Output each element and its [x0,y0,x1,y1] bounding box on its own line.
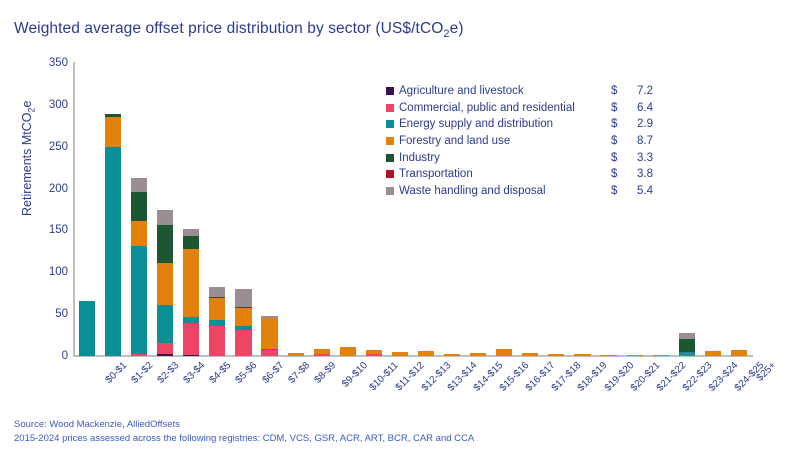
bar-segment [600,355,616,356]
bar-19-20[interactable] [574,354,590,356]
bar-7-8[interactable] [261,316,277,356]
bar-segment [261,350,277,356]
bar-segment [131,178,147,192]
bar-segment [235,330,251,356]
bar-segment [418,351,434,356]
y-axis-tick: 350 [6,57,68,69]
bar-segment [183,317,199,324]
bar-1-2[interactable] [105,114,121,356]
footer: Source: Wood Mackenzie, AlliedOffsets 20… [14,418,474,446]
bar-segment [157,210,173,226]
y-axis-title: Retirements MtCO2e [20,78,37,238]
bar-segment [235,308,251,326]
legend-value: 5.4 [627,185,653,197]
bar-segment [314,354,330,357]
bar-segment [679,355,695,356]
bar-segment [131,221,147,246]
bar-segment [79,301,95,356]
legend-item[interactable]: Waste handling and disposal$5.4 [386,183,653,200]
bar-segment [574,354,590,356]
bar-segment [183,229,199,236]
bar-21-22[interactable] [627,355,643,356]
bar-24-25[interactable] [705,351,721,356]
y-axis-tick: 50 [6,308,68,320]
bar-segment [235,289,251,307]
x-axis-tick: $7-$8 [286,360,312,386]
bar-segment [731,350,747,356]
bar-23-24[interactable] [679,333,695,356]
y-axis-title-main: Retirements MtCO [20,112,34,216]
legend-item[interactable]: Energy supply and distribution$2.9 [386,116,653,133]
y-axis-tick: 300 [6,99,68,111]
y-axis-title-tail: e [20,101,34,108]
bar-segment [470,353,486,356]
x-axis-tick: $1-$2 [130,360,156,386]
bar-11-12[interactable] [366,350,382,356]
legend-swatch-icon [386,154,394,162]
bar-18-19[interactable] [548,354,564,356]
bar-segment [366,354,382,357]
bar-segment [131,354,147,357]
legend-label: Agriculture and livestock [399,85,611,97]
bar-16-17[interactable] [496,349,512,356]
bar-segment [105,147,121,356]
x-axis-tick: $3-$4 [182,360,208,386]
legend-label: Energy supply and distribution [399,118,611,130]
legend-currency-symbol: $ [611,168,627,180]
bar-segment [444,354,460,356]
legend-swatch-icon [386,120,394,128]
bar-segment [261,318,277,350]
legend-value: 3.8 [627,168,653,180]
bar-22-23[interactable] [653,355,669,356]
legend-value: 8.7 [627,135,653,147]
bar-15-16[interactable] [470,353,486,356]
bar-6-7[interactable] [235,289,251,356]
bar-segment [157,225,173,263]
bar-20-21[interactable] [600,355,616,356]
legend-currency-symbol: $ [611,102,627,114]
legend-item[interactable]: Agriculture and livestock$7.2 [386,83,653,100]
bar-14-15[interactable] [444,354,460,356]
legend-label: Waste handling and disposal [399,185,611,197]
bar-segment [131,246,147,353]
legend-currency-symbol: $ [611,185,627,197]
bar-segment [183,249,199,317]
x-axis-tick: $2-$3 [156,360,182,386]
legend-swatch-icon [386,137,394,145]
bar-segment [340,347,356,356]
bar-segment [183,323,199,355]
page-title: Weighted average offset price distributi… [14,20,464,40]
bar-segment [157,305,173,343]
bar-segment [209,326,225,356]
bar-12-13[interactable] [392,352,408,356]
footer-source: Source: Wood Mackenzie, AlliedOffsets [14,418,474,432]
bar-segment [209,287,225,296]
legend-item[interactable]: Commercial, public and residential$6.4 [386,100,653,117]
bar-segment [627,355,643,356]
bar-17-18[interactable] [522,353,538,356]
y-axis-tick: 250 [6,141,68,153]
x-axis-tick: $4-$5 [208,360,234,386]
legend-item[interactable]: Forestry and land use$8.7 [386,133,653,150]
x-axis-tick: $0-$1 [104,360,130,386]
legend-value: 7.2 [627,85,653,97]
legend-label: Transportation [399,168,611,180]
bar-segment [105,117,121,146]
bar-segment [183,236,199,249]
bar-segment [183,355,199,356]
chart-root: Weighted average offset price distributi… [0,0,800,450]
legend-item[interactable]: Industry$3.3 [386,149,653,166]
legend-value: 6.4 [627,102,653,114]
bar-segment [548,354,564,356]
bar-8-9[interactable] [288,353,304,356]
bar-segment [157,354,173,357]
y-axis-tick: 150 [6,224,68,236]
x-axis-tick: $6-$7 [260,360,286,386]
page-title-main: Weighted average offset price distributi… [14,20,443,37]
bar-segment [288,353,304,356]
bar-10-11[interactable] [340,347,356,356]
footer-note: 2015-2024 prices assessed across the fol… [14,432,474,446]
bar-2-3[interactable] [131,178,147,356]
legend-swatch-icon [386,187,394,195]
legend-value: 2.9 [627,118,653,130]
x-axis-tick: $5-$6 [234,360,260,386]
bar-segment [679,339,695,352]
page-title-tail: e) [450,20,464,37]
legend-currency-symbol: $ [611,85,627,97]
bar-9-10[interactable] [314,349,330,356]
legend-label: Commercial, public and residential [399,102,611,114]
bar-segment [705,351,721,356]
x-axis-tick: $8-$9 [312,360,338,386]
legend-label: Forestry and land use [399,135,611,147]
bar-0-1[interactable] [79,301,95,356]
y-axis-tick: 200 [6,183,68,195]
bar-segment [157,263,173,305]
legend-swatch-icon [386,170,394,178]
legend-swatch-icon [386,87,394,95]
x-axis-tick: $9-$10 [340,360,370,390]
y-axis-tick: 0 [6,350,68,362]
legend-label: Industry [399,152,611,164]
legend-value: 3.3 [627,152,653,164]
bar-segment [131,192,147,221]
bar-4-5[interactable] [183,229,199,356]
bar-segment [522,353,538,356]
legend-currency-symbol: $ [611,135,627,147]
bar-segment [157,343,173,354]
y-axis-title-subscript: 2 [26,107,36,112]
bar-segment [496,349,512,356]
legend-swatch-icon [386,104,394,112]
bar-13-14[interactable] [418,351,434,356]
legend: Agriculture and livestock$7.2Commercial,… [386,83,653,199]
bar-segment [392,352,408,356]
legend-item[interactable]: Transportation$3.8 [386,166,653,183]
bar-segment [209,298,225,320]
bar-25-[interactable] [731,350,747,356]
bar-3-4[interactable] [157,210,173,357]
y-axis-tick: 100 [6,266,68,278]
bar-segment [653,355,669,356]
bar-5-6[interactable] [209,287,225,356]
legend-currency-symbol: $ [611,152,627,164]
legend-currency-symbol: $ [611,118,627,130]
bar-segment [679,333,695,340]
